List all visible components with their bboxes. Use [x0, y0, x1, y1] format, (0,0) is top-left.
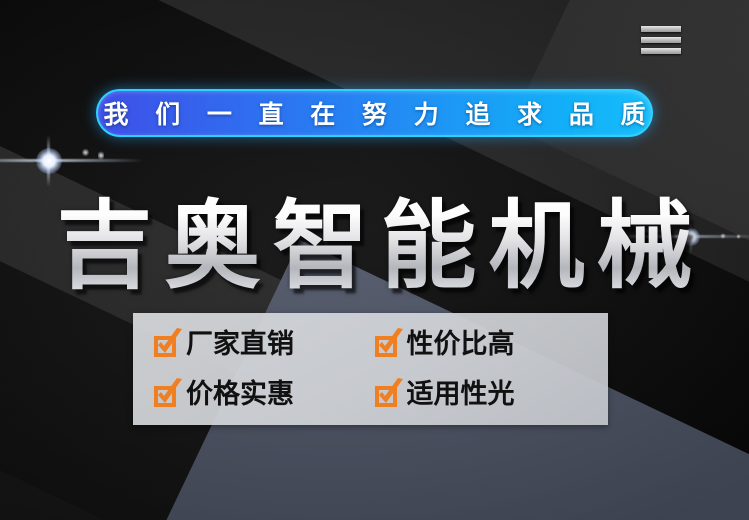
- feature-item-3: 适用性光: [374, 381, 595, 408]
- feature-label: 性价比高: [407, 331, 515, 358]
- company-name-text: 吉奥智能机械: [45, 168, 705, 307]
- menu-bar: [641, 37, 681, 43]
- menu-bar: [641, 26, 681, 32]
- feature-item-2: 价格实惠: [153, 381, 374, 408]
- checkbox-checked-icon: [153, 381, 179, 407]
- checkbox-checked-icon: [374, 381, 400, 407]
- hamburger-menu-icon[interactable]: [641, 26, 681, 54]
- feature-label: 适用性光: [407, 381, 515, 408]
- feature-list-panel: 厂家直销 性价比高 价格实惠 适用性光: [133, 313, 608, 425]
- checkbox-checked-icon: [153, 331, 179, 357]
- tagline-banner: 我 们 一 直 在 努 力 追 求 品 质: [96, 89, 653, 137]
- feature-label: 价格实惠: [186, 381, 294, 408]
- feature-item-1: 性价比高: [374, 331, 595, 358]
- menu-bar: [641, 48, 681, 54]
- feature-label: 厂家直销: [186, 331, 294, 358]
- feature-item-0: 厂家直销: [153, 331, 374, 358]
- tagline-text: 我 们 一 直 在 努 力 追 求 品 质: [94, 95, 654, 131]
- checkbox-checked-icon: [374, 331, 400, 357]
- page-title: 吉奥智能机械: [0, 168, 749, 307]
- promotional-banner: 我 们 一 直 在 努 力 追 求 品 质 吉奥智能机械 厂家直销 性价比高: [0, 0, 749, 520]
